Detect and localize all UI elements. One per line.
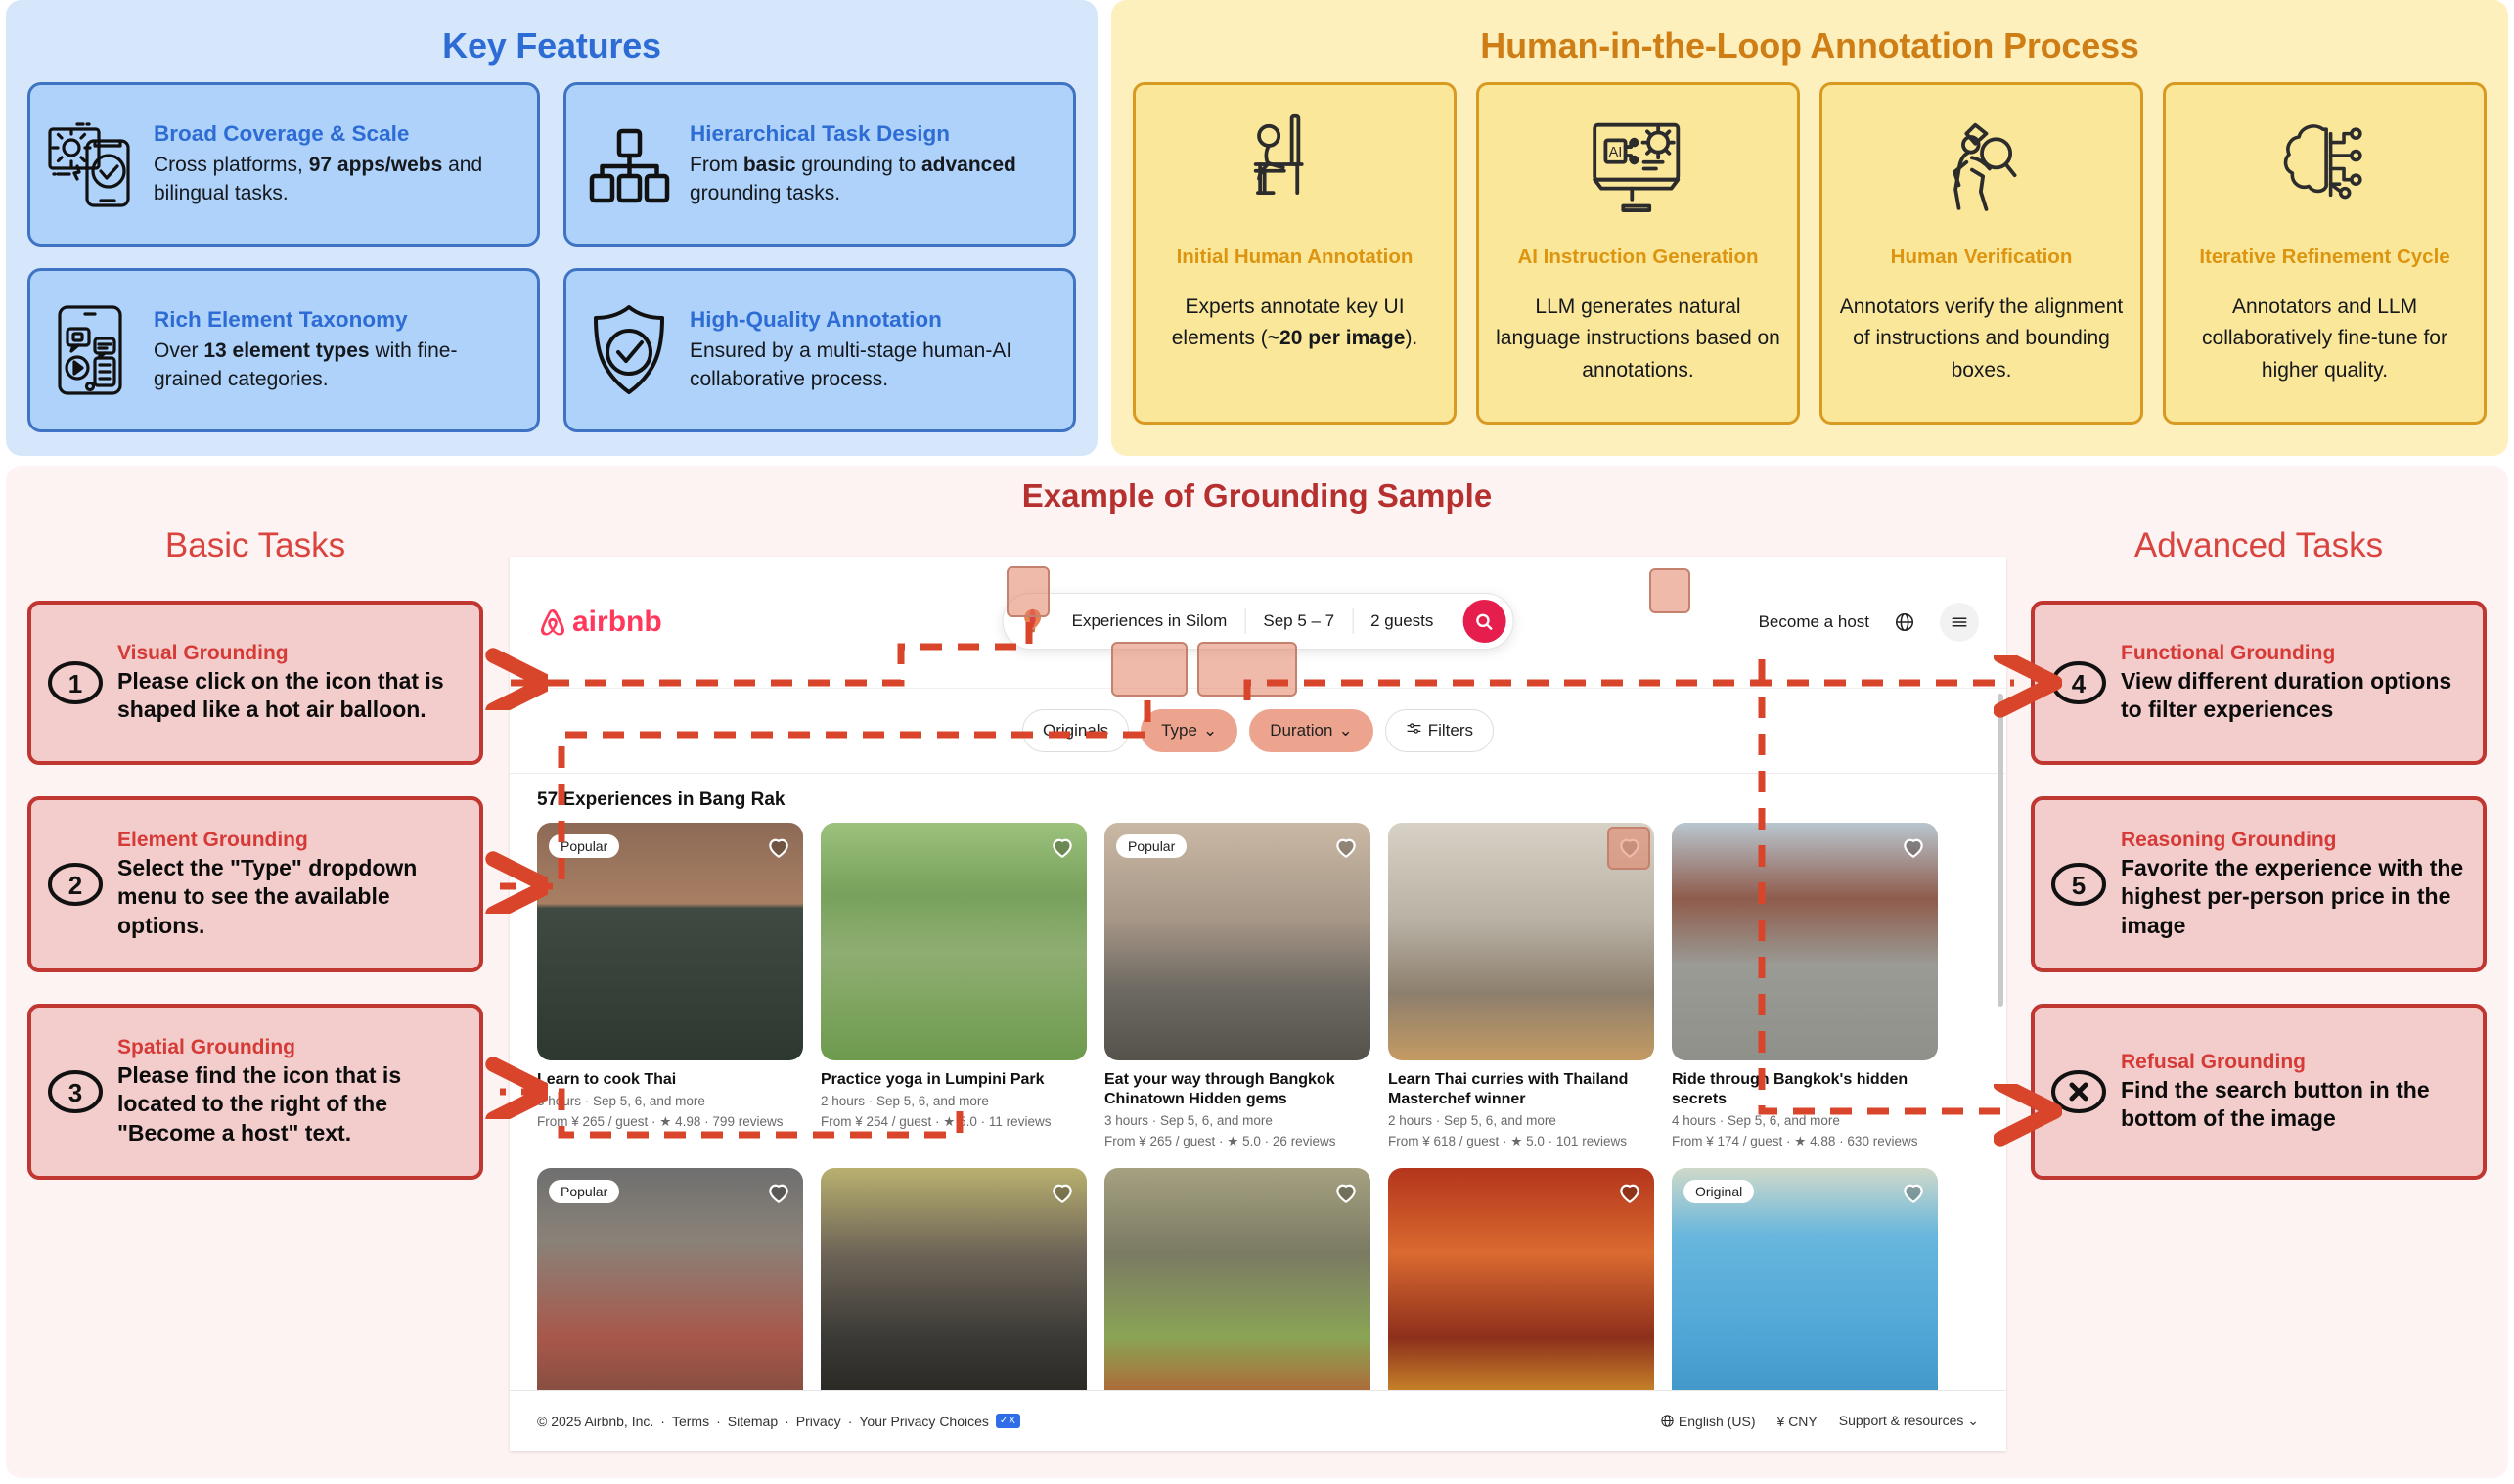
feature-text-pre: Cross platforms, — [154, 154, 309, 176]
svg-text:5: 5 — [2072, 871, 2086, 900]
feature-text-pre: Over — [154, 339, 203, 362]
task-text: Please find the icon that is located to … — [117, 1061, 464, 1147]
task-body: Element Grounding Select the "Type" drop… — [117, 829, 464, 940]
feature-text-pre: From — [690, 154, 743, 176]
ai-monitor-gear-icon: AI — [1584, 105, 1693, 224]
task-card-spatial-grounding[interactable]: 3 Spatial Grounding Please find the icon… — [27, 1004, 483, 1180]
feature-text-mid: grounding to — [796, 154, 921, 176]
heart-icon[interactable] — [1333, 834, 1359, 860]
filter-pill-filters[interactable]: Filters — [1385, 709, 1494, 752]
card-duration: 3 hours · Sep 5, 6, and more — [1104, 1112, 1370, 1130]
hitl-grid: Initial Human Annotation Experts annotat… — [1133, 82, 2487, 425]
search-location[interactable]: Experiences in Silom — [1055, 611, 1245, 631]
filter-pill-row: Originals Type ⌄ Duration ⌄ Filters — [510, 689, 2006, 774]
advanced-tasks-title: Advanced Tasks — [2009, 526, 2508, 565]
footer-dot: · — [716, 1414, 721, 1429]
filter-pill-type[interactable]: Type ⌄ — [1141, 709, 1237, 752]
task-body: Visual Grounding Please click on the ico… — [117, 642, 464, 725]
search-guests[interactable]: 2 guests — [1353, 611, 1451, 631]
card-duration: 2 hours · Sep 5, 6, and more — [1388, 1112, 1654, 1130]
search-dates[interactable]: Sep 5 – 7 — [1245, 611, 1352, 631]
highlight-box-globe-icon — [1649, 568, 1690, 613]
footer-link-privacy-choices[interactable]: Your Privacy Choices — [859, 1414, 989, 1429]
top-row: Key Features — [0, 0, 2514, 456]
heart-icon[interactable] — [1050, 1180, 1075, 1205]
hierarchy-tree-icon — [578, 113, 680, 215]
card-thumbnail[interactable] — [821, 1168, 1087, 1411]
experience-card[interactable] — [821, 1168, 1087, 1411]
highlight-box-type-pill — [1111, 642, 1188, 697]
person-at-desk-icon — [1240, 105, 1350, 224]
hitl-step-human-verification: Human Verification Annotators verify the… — [1819, 82, 2143, 425]
feature-card-body: Rich Element Taxonomy Over 13 element ty… — [154, 306, 521, 394]
card-thumbnail[interactable]: Popular — [1104, 823, 1370, 1060]
card-price: From ¥ 254 / guest · ★ 5.0 · 11 reviews — [821, 1113, 1087, 1131]
task-body: Refusal Grounding Find the search button… — [2121, 1051, 2467, 1134]
heart-icon[interactable] — [766, 1180, 791, 1205]
svg-text:AI: AI — [1608, 145, 1622, 160]
hitl-step-name: Human Verification — [1891, 246, 2073, 270]
experience-card[interactable] — [1388, 1168, 1654, 1411]
feature-card-body: Hierarchical Task Design From basic grou… — [690, 120, 1057, 208]
card-title: Learn to cook Thai — [537, 1070, 803, 1090]
task-heading: Refusal Grounding — [2121, 1051, 2467, 1074]
footer-dot: · — [848, 1414, 853, 1429]
ui-elements-phone-icon — [42, 299, 144, 401]
task-body: Spatial Grounding Please find the icon t… — [117, 1036, 464, 1147]
hitl-step-desc: Experts annotate key UI elements (~20 pe… — [1147, 292, 1442, 355]
card-meta: Ride through Bangkok's hidden secrets 4 … — [1672, 1060, 1938, 1150]
feature-heading: Broad Coverage & Scale — [154, 120, 521, 148]
footer-link-privacy[interactable]: Privacy — [796, 1414, 841, 1429]
hitl-step-desc: LLM generates natural language instructi… — [1491, 292, 1785, 387]
feature-text: From basic grounding to advanced groundi… — [690, 152, 1057, 208]
chevron-down-icon: ⌄ — [1338, 721, 1352, 741]
feature-text: Over 13 element types with fine-grained … — [154, 337, 521, 394]
footer-copyright: © 2025 Airbnb, Inc. — [537, 1414, 653, 1429]
footer-support-label: Support & resources — [1839, 1413, 1964, 1428]
device-gear-check-icon — [42, 113, 144, 215]
card-meta: Eat your way through Bangkok Chinatown H… — [1104, 1060, 1370, 1150]
card-price: From ¥ 265 / guest · ★ 4.98 · 799 review… — [537, 1113, 803, 1131]
card-thumbnail[interactable] — [1672, 823, 1938, 1060]
feature-text-bold: 97 apps/webs — [309, 154, 443, 176]
airbnb-logo[interactable]: airbnb — [537, 606, 662, 639]
hitl-step-name: AI Instruction Generation — [1517, 246, 1758, 270]
vertical-scrollbar[interactable] — [1998, 694, 2003, 1007]
card-title: Practice yoga in Lumpini Park — [821, 1070, 1087, 1090]
heart-icon[interactable] — [1333, 1180, 1359, 1205]
basic-tasks-title: Basic Tasks — [6, 526, 505, 565]
hitl-step-ai-instruction-generation: AI AI Instruction Generation LLM generat… — [1476, 82, 1800, 425]
hamburger-menu-icon[interactable] — [1940, 603, 1979, 642]
card-thumbnail[interactable] — [1388, 823, 1654, 1060]
experience-card[interactable]: Popular Eat your way through Bangkok Chi… — [1104, 823, 1370, 1150]
card-meta: Learn Thai curries with Thailand Masterc… — [1388, 1060, 1654, 1150]
card-price: From ¥ 618 / guest · ★ 5.0 · 101 reviews — [1388, 1133, 1654, 1150]
card-duration: 3 hours · Sep 5, 6, and more — [537, 1093, 803, 1110]
experience-cards-row-2: Popular — [510, 1168, 2006, 1411]
task-heading: Element Grounding — [117, 829, 464, 852]
task-card-element-grounding[interactable]: 2 Element Grounding Select the "Type" dr… — [27, 796, 483, 972]
currency-symbol: ¥ — [1777, 1414, 1785, 1429]
chevron-down-icon: ⌄ — [1203, 721, 1217, 741]
hitl-step-name: Initial Human Annotation — [1177, 246, 1414, 270]
example-title: Example of Grounding Sample — [6, 477, 2508, 515]
task-card-functional-grounding[interactable]: 4 Functional Grounding View different du… — [2031, 601, 2487, 765]
feature-card-body: High-Quality Annotation Ensured by a mul… — [690, 306, 1057, 394]
cross-circle-icon — [2050, 1069, 2107, 1114]
experience-card[interactable]: Popular Learn to cook Thai 3 hours · Sep… — [537, 823, 803, 1150]
header-right: Become a host — [1759, 603, 1979, 642]
filter-label: Duration — [1270, 721, 1332, 741]
footer-language[interactable]: English (US) — [1660, 1414, 1755, 1429]
svg-text:2: 2 — [68, 871, 82, 900]
filter-label: Filters — [1428, 721, 1473, 741]
number-1-icon: 1 — [47, 660, 104, 705]
results-count-title: 57 Experiences in Bang Rak — [510, 774, 2006, 823]
hitl-panel: Human-in-the-Loop Annotation Process — [1111, 0, 2508, 456]
footer-right: English (US) ¥ CNY Support & resources ⌄ — [1660, 1413, 1979, 1429]
number-2-icon: 2 — [47, 862, 104, 907]
task-text: Select the "Type" dropdown menu to see t… — [117, 854, 464, 940]
chevron-down-icon: ⌄ — [1967, 1413, 1979, 1428]
task-card-reasoning-grounding[interactable]: 5 Reasoning Grounding Favorite the exper… — [2031, 796, 2487, 972]
footer-left: © 2025 Airbnb, Inc. · Terms · Sitemap · … — [537, 1414, 1020, 1429]
feature-heading: High-Quality Annotation — [690, 306, 1057, 334]
brain-circuit-icon — [2270, 105, 2380, 224]
hitl-step-name: Iterative Refinement Cycle — [2199, 246, 2449, 270]
task-body: Functional Grounding View different dura… — [2121, 642, 2467, 725]
key-features-grid: Broad Coverage & Scale Cross platforms, … — [27, 82, 1076, 432]
desc-bold: ~20 per image — [1268, 327, 1406, 349]
feature-card-broad-coverage: Broad Coverage & Scale Cross platforms, … — [27, 82, 540, 247]
experience-card[interactable]: Original — [1672, 1168, 1938, 1411]
hitl-step-desc: Annotators verify the alignment of instr… — [1834, 292, 2129, 387]
task-heading: Functional Grounding — [2121, 642, 2467, 665]
heart-icon[interactable] — [1050, 834, 1075, 860]
example-panel: Example of Grounding Sample Basic Tasks … — [6, 466, 2508, 1478]
card-badge: Popular — [1116, 834, 1187, 858]
task-body: Reasoning Grounding Favorite the experie… — [2121, 829, 2467, 940]
infographic-page: Key Features — [0, 0, 2514, 1484]
feature-text-post: grounding tasks. — [690, 182, 840, 204]
filter-label: Originals — [1043, 721, 1108, 741]
footer-support[interactable]: Support & resources ⌄ — [1839, 1413, 1979, 1429]
experience-card[interactable]: Ride through Bangkok's hidden secrets 4 … — [1672, 823, 1938, 1150]
card-duration: 2 hours · Sep 5, 6, and more — [821, 1093, 1087, 1110]
task-card-refusal-grounding[interactable]: Refusal Grounding Find the search button… — [2031, 1004, 2487, 1180]
card-thumbnail[interactable]: Original — [1672, 1168, 1938, 1411]
shield-check-icon — [578, 299, 680, 401]
feature-text-bold2: advanced — [921, 154, 1016, 176]
footer-dot: · — [660, 1414, 665, 1429]
key-features-title: Key Features — [27, 25, 1076, 67]
footer-dot: · — [785, 1414, 789, 1429]
filter-label: Type — [1161, 721, 1197, 741]
highlight-box-duration-pill — [1197, 642, 1297, 697]
card-thumbnail[interactable] — [1388, 1168, 1654, 1411]
footer-currency[interactable]: ¥ CNY — [1777, 1414, 1818, 1429]
globe-icon[interactable] — [1885, 603, 1924, 642]
desc-post: ). — [1405, 327, 1417, 349]
task-text: Find the search button in the bottom of … — [2121, 1076, 2467, 1134]
heart-icon[interactable] — [766, 834, 791, 860]
task-heading: Spatial Grounding — [117, 1036, 464, 1059]
feature-heading: Rich Element Taxonomy — [154, 306, 521, 334]
card-duration: 4 hours · Sep 5, 6, and more — [1672, 1112, 1938, 1130]
highlight-box-favorite-heart — [1607, 827, 1650, 870]
privacy-choices-badge-icon[interactable]: ✓X — [996, 1414, 1020, 1428]
number-5-icon: 5 — [2050, 862, 2107, 907]
experience-card[interactable]: Popular — [537, 1168, 803, 1411]
feature-card-taxonomy: Rich Element Taxonomy Over 13 element ty… — [27, 268, 540, 432]
task-text: View different duration options to filte… — [2121, 667, 2467, 725]
hitl-step-iterative-refinement: Iterative Refinement Cycle Annotators an… — [2163, 82, 2487, 425]
become-a-host-link[interactable]: Become a host — [1759, 612, 1869, 632]
search-icon[interactable] — [1462, 600, 1505, 643]
feature-card-body: Broad Coverage & Scale Cross platforms, … — [154, 120, 521, 208]
footer-link-terms[interactable]: Terms — [672, 1414, 709, 1429]
card-badge: Popular — [549, 1180, 619, 1203]
experience-card[interactable] — [1104, 1168, 1370, 1411]
task-heading: Visual Grounding — [117, 642, 464, 665]
feature-heading: Hierarchical Task Design — [690, 120, 1057, 148]
task-card-visual-grounding[interactable]: 1 Visual Grounding Please click on the i… — [27, 601, 483, 765]
experience-card[interactable]: Learn Thai curries with Thailand Masterc… — [1388, 823, 1654, 1150]
card-meta: Learn to cook Thai 3 hours · Sep 5, 6, a… — [537, 1060, 803, 1131]
heart-icon[interactable] — [1617, 1180, 1642, 1205]
heart-icon[interactable] — [1901, 1180, 1926, 1205]
svg-text:3: 3 — [68, 1078, 82, 1107]
card-meta: Practice yoga in Lumpini Park 2 hours · … — [821, 1060, 1087, 1131]
feature-card-quality: High-Quality Annotation Ensured by a mul… — [563, 268, 1076, 432]
feature-text-bold: 13 element types — [203, 339, 369, 362]
feature-text-bold: basic — [743, 154, 796, 176]
card-badge: Popular — [549, 834, 619, 858]
feature-text: Cross platforms, 97 apps/webs and biling… — [154, 152, 521, 208]
number-4-icon: 4 — [2050, 660, 2107, 705]
card-thumbnail[interactable] — [821, 823, 1087, 1060]
svg-text:1: 1 — [68, 669, 82, 698]
feature-card-hierarchical: Hierarchical Task Design From basic grou… — [563, 82, 1076, 247]
footer-link-sitemap[interactable]: Sitemap — [728, 1414, 778, 1429]
hitl-step-desc: Annotators and LLM collaboratively fine-… — [2177, 292, 2472, 387]
svg-text:4: 4 — [2072, 669, 2087, 698]
hitl-step-initial-human-annotation: Initial Human Annotation Experts annotat… — [1133, 82, 1457, 425]
experience-card[interactable]: Practice yoga in Lumpini Park 2 hours · … — [821, 823, 1087, 1150]
sliders-icon — [1406, 720, 1422, 742]
card-thumbnail[interactable] — [1104, 1168, 1370, 1411]
filter-pill-duration[interactable]: Duration ⌄ — [1249, 709, 1373, 752]
card-price: From ¥ 174 / guest · ★ 4.88 · 630 review… — [1672, 1133, 1938, 1150]
footer-language-label: English (US) — [1679, 1414, 1756, 1429]
card-thumbnail[interactable]: Popular — [537, 1168, 803, 1411]
task-text: Favorite the experience with the highest… — [2121, 854, 2467, 940]
card-title: Learn Thai curries with Thailand Masterc… — [1388, 1070, 1654, 1109]
heart-icon[interactable] — [1901, 834, 1926, 860]
card-price: From ¥ 265 / guest · ★ 5.0 · 26 reviews — [1104, 1133, 1370, 1150]
number-3-icon: 3 — [47, 1069, 104, 1114]
card-thumbnail[interactable]: Popular — [537, 823, 803, 1060]
task-text: Please click on the icon that is shaped … — [117, 667, 464, 725]
person-magnifier-icon — [1927, 105, 2037, 224]
currency-code: CNY — [1788, 1414, 1818, 1429]
filter-pill-originals[interactable]: Originals — [1022, 709, 1129, 752]
task-heading: Reasoning Grounding — [2121, 829, 2467, 852]
card-title: Eat your way through Bangkok Chinatown H… — [1104, 1070, 1370, 1109]
card-title: Ride through Bangkok's hidden secrets — [1672, 1070, 1938, 1109]
feature-text: Ensured by a multi-stage human-AI collab… — [690, 337, 1057, 394]
key-features-panel: Key Features — [6, 0, 1098, 456]
hitl-title: Human-in-the-Loop Annotation Process — [1133, 25, 2487, 67]
highlight-box-balloon-icon — [1007, 566, 1050, 617]
experience-cards-row-1: Popular Learn to cook Thai 3 hours · Sep… — [510, 823, 2006, 1150]
airbnb-logo-text: airbnb — [572, 606, 662, 639]
airbnb-footer: © 2025 Airbnb, Inc. · Terms · Sitemap · … — [510, 1390, 2006, 1451]
card-badge: Original — [1683, 1180, 1754, 1203]
